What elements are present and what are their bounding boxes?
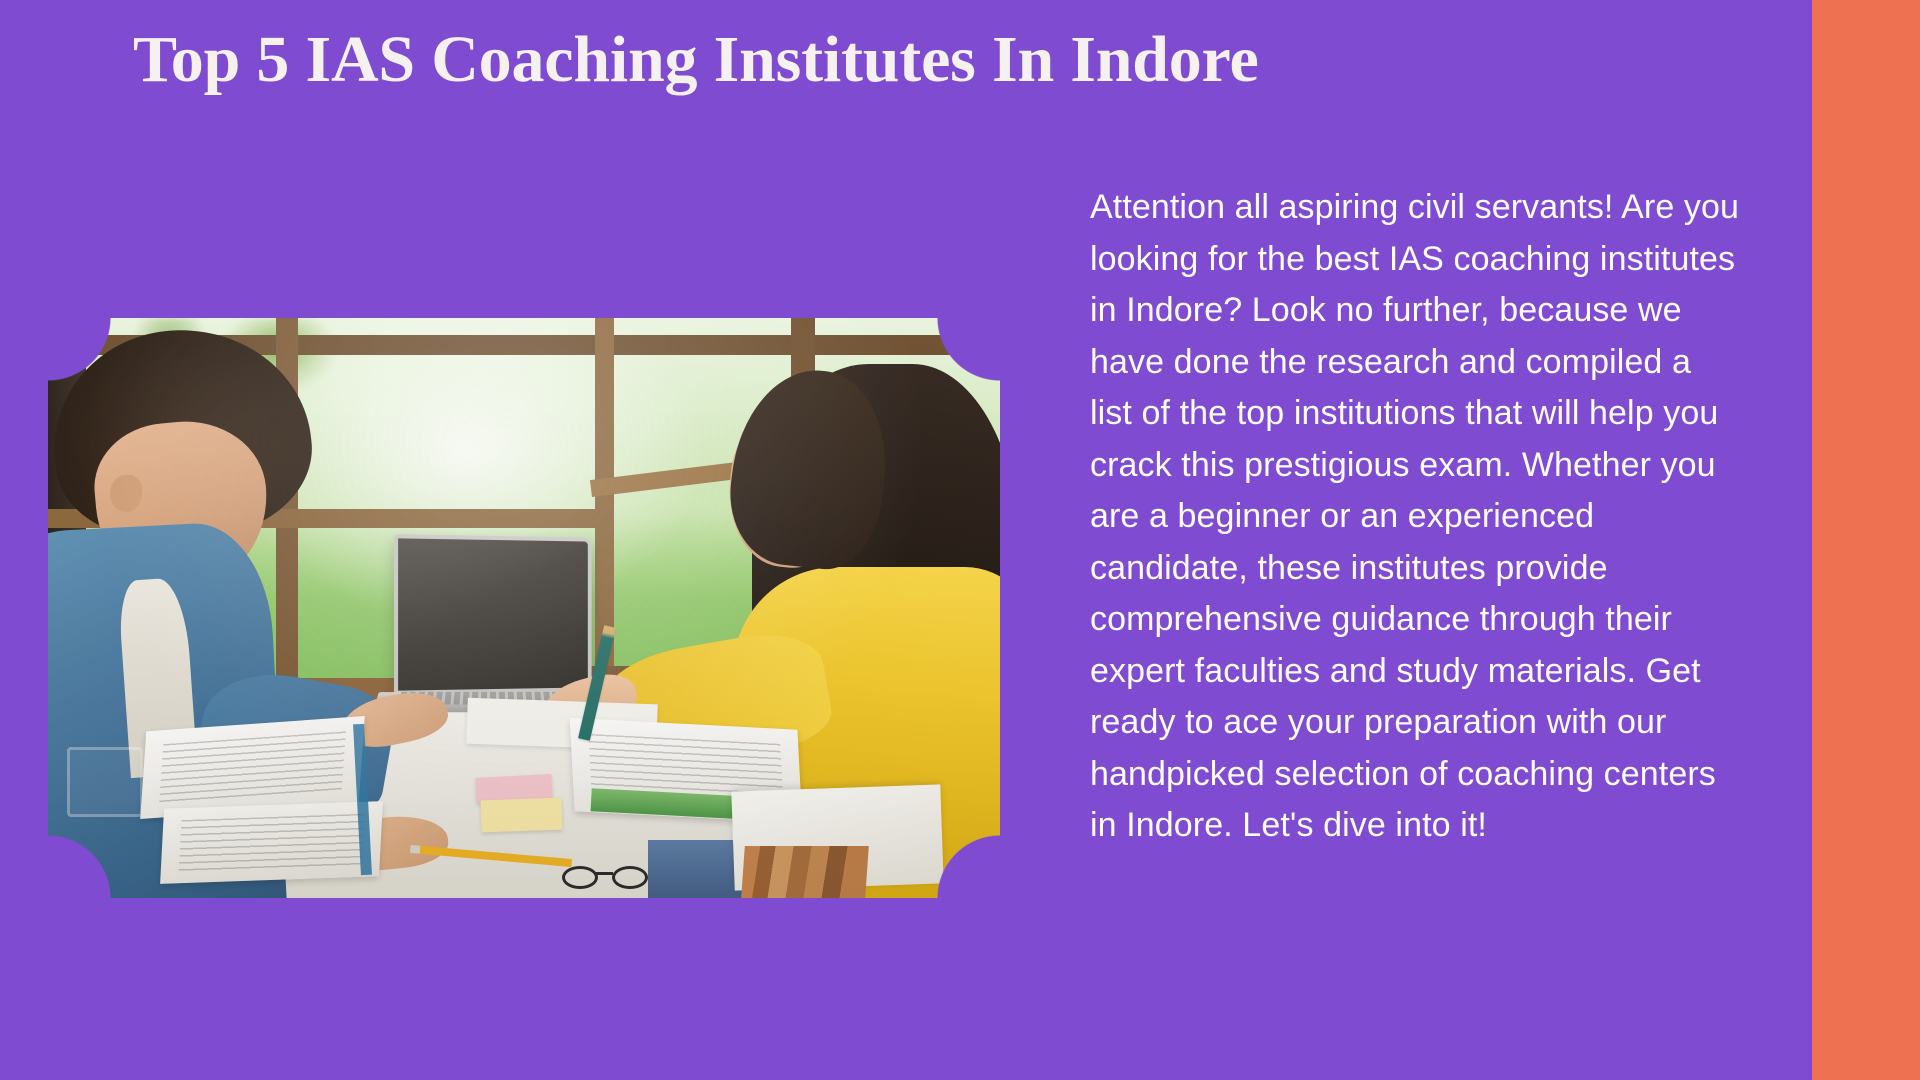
body-paragraph: Attention all aspiring civil servants! A… (1090, 182, 1740, 852)
colored-pencils (741, 846, 868, 898)
sticky-note-yellow (481, 798, 563, 833)
hero-image-clip (48, 318, 1000, 898)
open-textbook-page-bottom (160, 801, 383, 884)
hero-image-frame (48, 318, 1000, 898)
eyeglasses-bridge (596, 872, 613, 875)
eyeglasses (562, 863, 648, 892)
eyeglasses-lens-right (612, 866, 648, 889)
page-title: Top 5 IAS Coaching Institutes In Indore (133, 24, 1693, 95)
student-left-shirt-pocket (67, 747, 143, 817)
hero-image-students-studying (48, 318, 1000, 898)
textbook-text-lines-bottom (178, 814, 365, 873)
slide-canvas: Top 5 IAS Coaching Institutes In Indore (0, 0, 1920, 1080)
textbook-text-lines-top (159, 731, 347, 805)
eyeglasses-lens-left (562, 866, 598, 889)
right-accent-band (1812, 0, 1920, 1080)
laptop-screen (394, 534, 592, 694)
